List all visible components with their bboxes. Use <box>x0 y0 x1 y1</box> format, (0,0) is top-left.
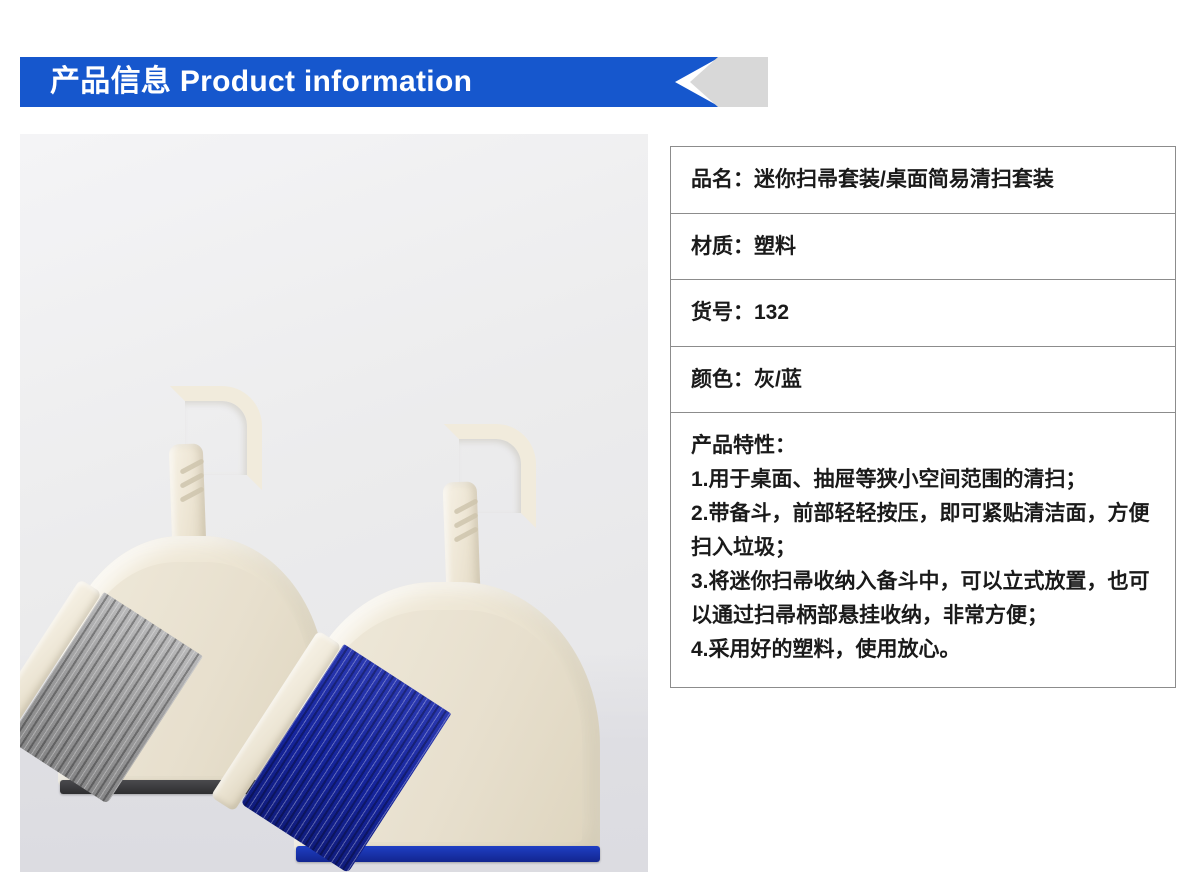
table-row: 货号：132 <box>671 280 1176 347</box>
spec-label: 货号： <box>691 301 754 324</box>
page-title: 产品信息 Product information <box>50 57 472 107</box>
spec-value: 灰/蓝 <box>754 368 802 391</box>
table-row: 品名：迷你扫帚套装/桌面简易清扫套装 <box>671 147 1176 214</box>
spec-cell-material: 材质：塑料 <box>671 213 1176 280</box>
product-spec-table: 品名：迷你扫帚套装/桌面简易清扫套装 材质：塑料 货号：132 颜色：灰/蓝 产… <box>670 146 1176 688</box>
spec-label: 品名： <box>691 168 754 191</box>
spec-cell-product-name: 品名：迷你扫帚套装/桌面简易清扫套装 <box>671 147 1176 214</box>
spec-cell-color: 颜色：灰/蓝 <box>671 346 1176 413</box>
page-header-banner: 产品信息 Product information <box>20 57 780 107</box>
table-row: 颜色：灰/蓝 <box>671 346 1176 413</box>
photo-stage <box>20 134 648 872</box>
product-photo <box>20 134 648 872</box>
spec-label: 颜色： <box>691 368 754 391</box>
table-row: 材质：塑料 <box>671 213 1176 280</box>
spec-label: 材质： <box>691 235 754 258</box>
spec-value: 迷你扫帚套装/桌面简易清扫套装 <box>754 168 1054 191</box>
dustpan-brush-set-blue <box>268 424 618 872</box>
table-row: 产品特性： 1.用于桌面、抽屉等狭小空间范围的清扫； 2.带备斗，前部轻轻按压，… <box>671 413 1176 688</box>
spec-value: 塑料 <box>754 235 796 258</box>
spec-cell-features: 产品特性： 1.用于桌面、抽屉等狭小空间范围的清扫； 2.带备斗，前部轻轻按压，… <box>671 413 1176 688</box>
spec-value: 132 <box>754 301 789 324</box>
product-features-text: 产品特性： 1.用于桌面、抽屉等狭小空间范围的清扫； 2.带备斗，前部轻轻按压，… <box>691 429 1155 667</box>
spec-cell-item-number: 货号：132 <box>671 280 1176 347</box>
